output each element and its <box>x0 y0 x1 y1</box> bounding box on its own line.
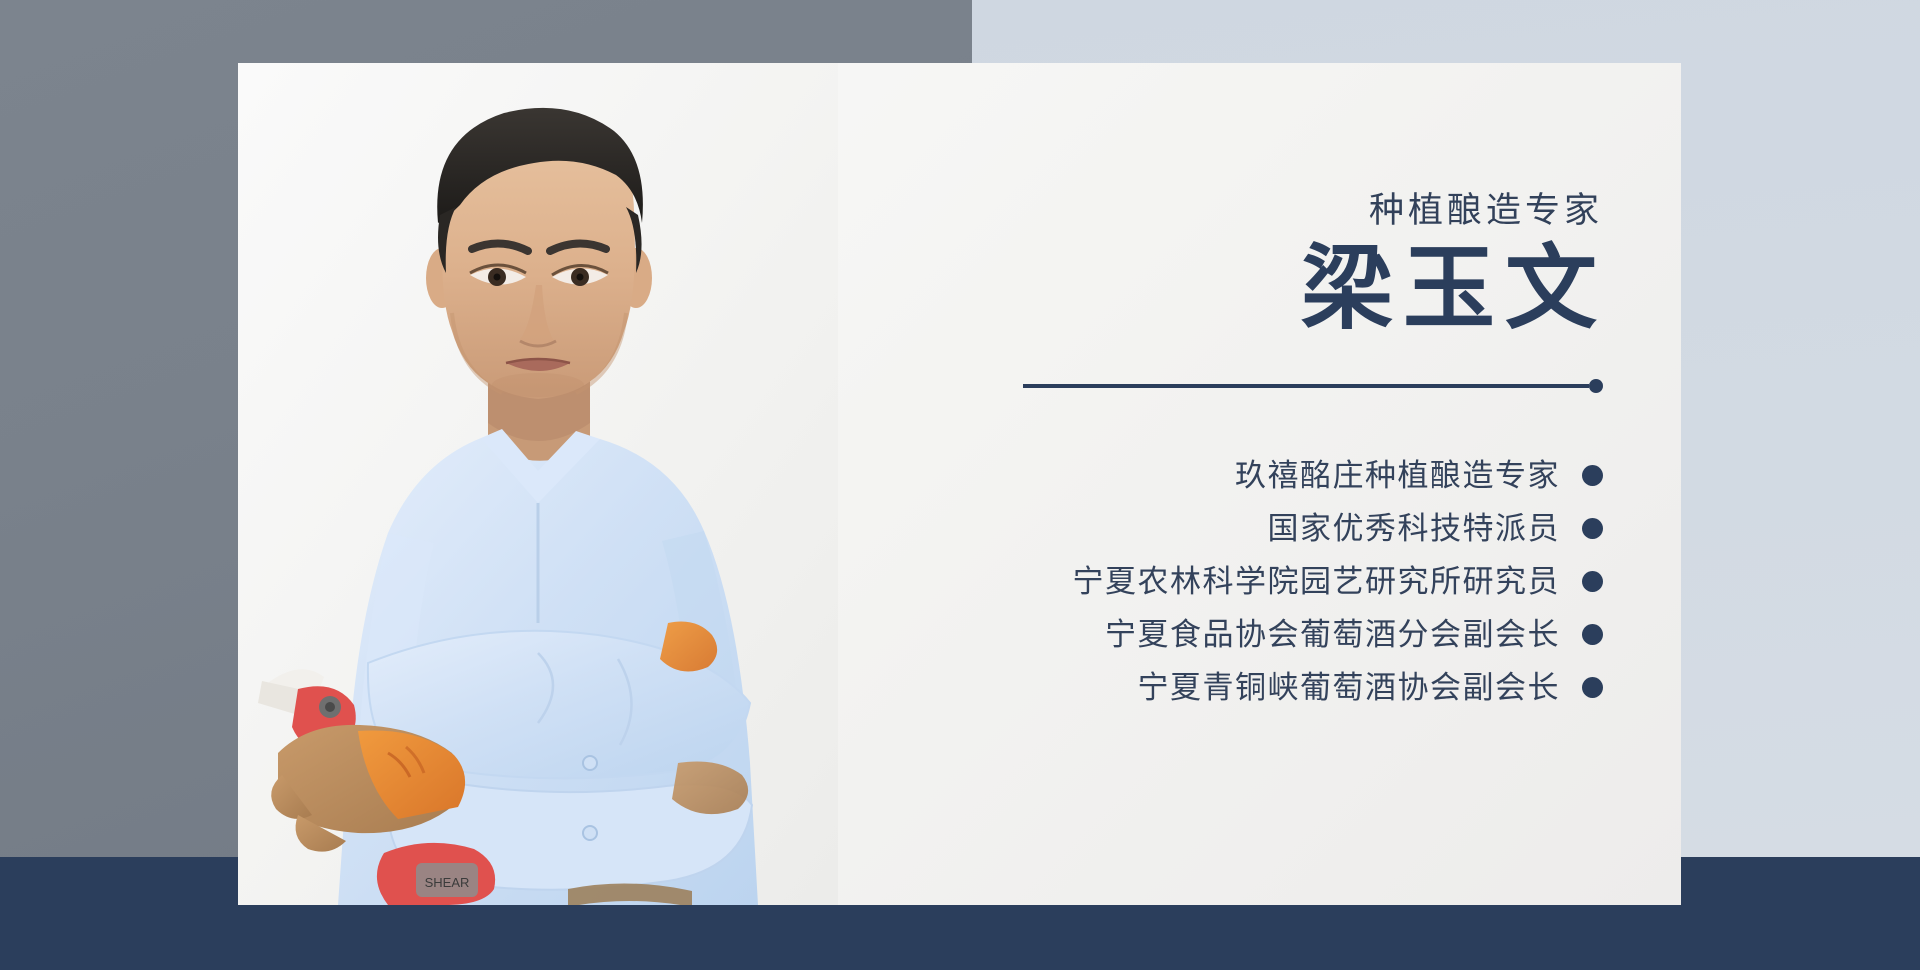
credential-list: 玖禧酩庄种植酿造专家 国家优秀科技特派员 宁夏农林科学院园艺研究所研究员 宁夏食… <box>723 449 1603 714</box>
list-item: 宁夏农林科学院园艺研究所研究员 <box>723 555 1603 608</box>
svg-text:SHEAR: SHEAR <box>425 875 470 890</box>
divider-end-dot <box>1589 379 1603 393</box>
bullet-dot-icon <box>1582 677 1603 698</box>
bullet-dot-icon <box>1582 518 1603 539</box>
list-item: 国家优秀科技特派员 <box>723 502 1603 555</box>
bullet-dot-icon <box>1582 571 1603 592</box>
credential-label: 宁夏青铜峡葡萄酒协会副会长 <box>1138 672 1561 703</box>
poster-stage: SHEAR <box>0 0 1920 970</box>
credential-label: 宁夏农林科学院园艺研究所研究员 <box>1073 566 1561 597</box>
credential-label: 国家优秀科技特派员 <box>1268 513 1561 544</box>
divider-rule <box>1023 379 1603 393</box>
list-item: 玖禧酩庄种植酿造专家 <box>723 449 1603 502</box>
credential-label: 玖禧酩庄种植酿造专家 <box>1235 460 1560 491</box>
list-item: 宁夏青铜峡葡萄酒协会副会长 <box>723 661 1603 714</box>
divider-line <box>1023 384 1589 388</box>
profile-info: 种植酿造专家 梁玉文 玖禧酩庄种植酿造专家 国家优秀科技特派员 宁夏农林科学院园… <box>723 63 1603 905</box>
profile-subtitle: 种植酿造专家 <box>723 193 1603 228</box>
bullet-dot-icon <box>1582 624 1603 645</box>
list-item: 宁夏食品协会葡萄酒分会副会长 <box>723 608 1603 661</box>
profile-card: SHEAR <box>238 63 1681 905</box>
profile-name: 梁玉文 <box>727 241 1607 338</box>
bullet-dot-icon <box>1582 465 1603 486</box>
credential-label: 宁夏食品协会葡萄酒分会副会长 <box>1105 619 1560 650</box>
